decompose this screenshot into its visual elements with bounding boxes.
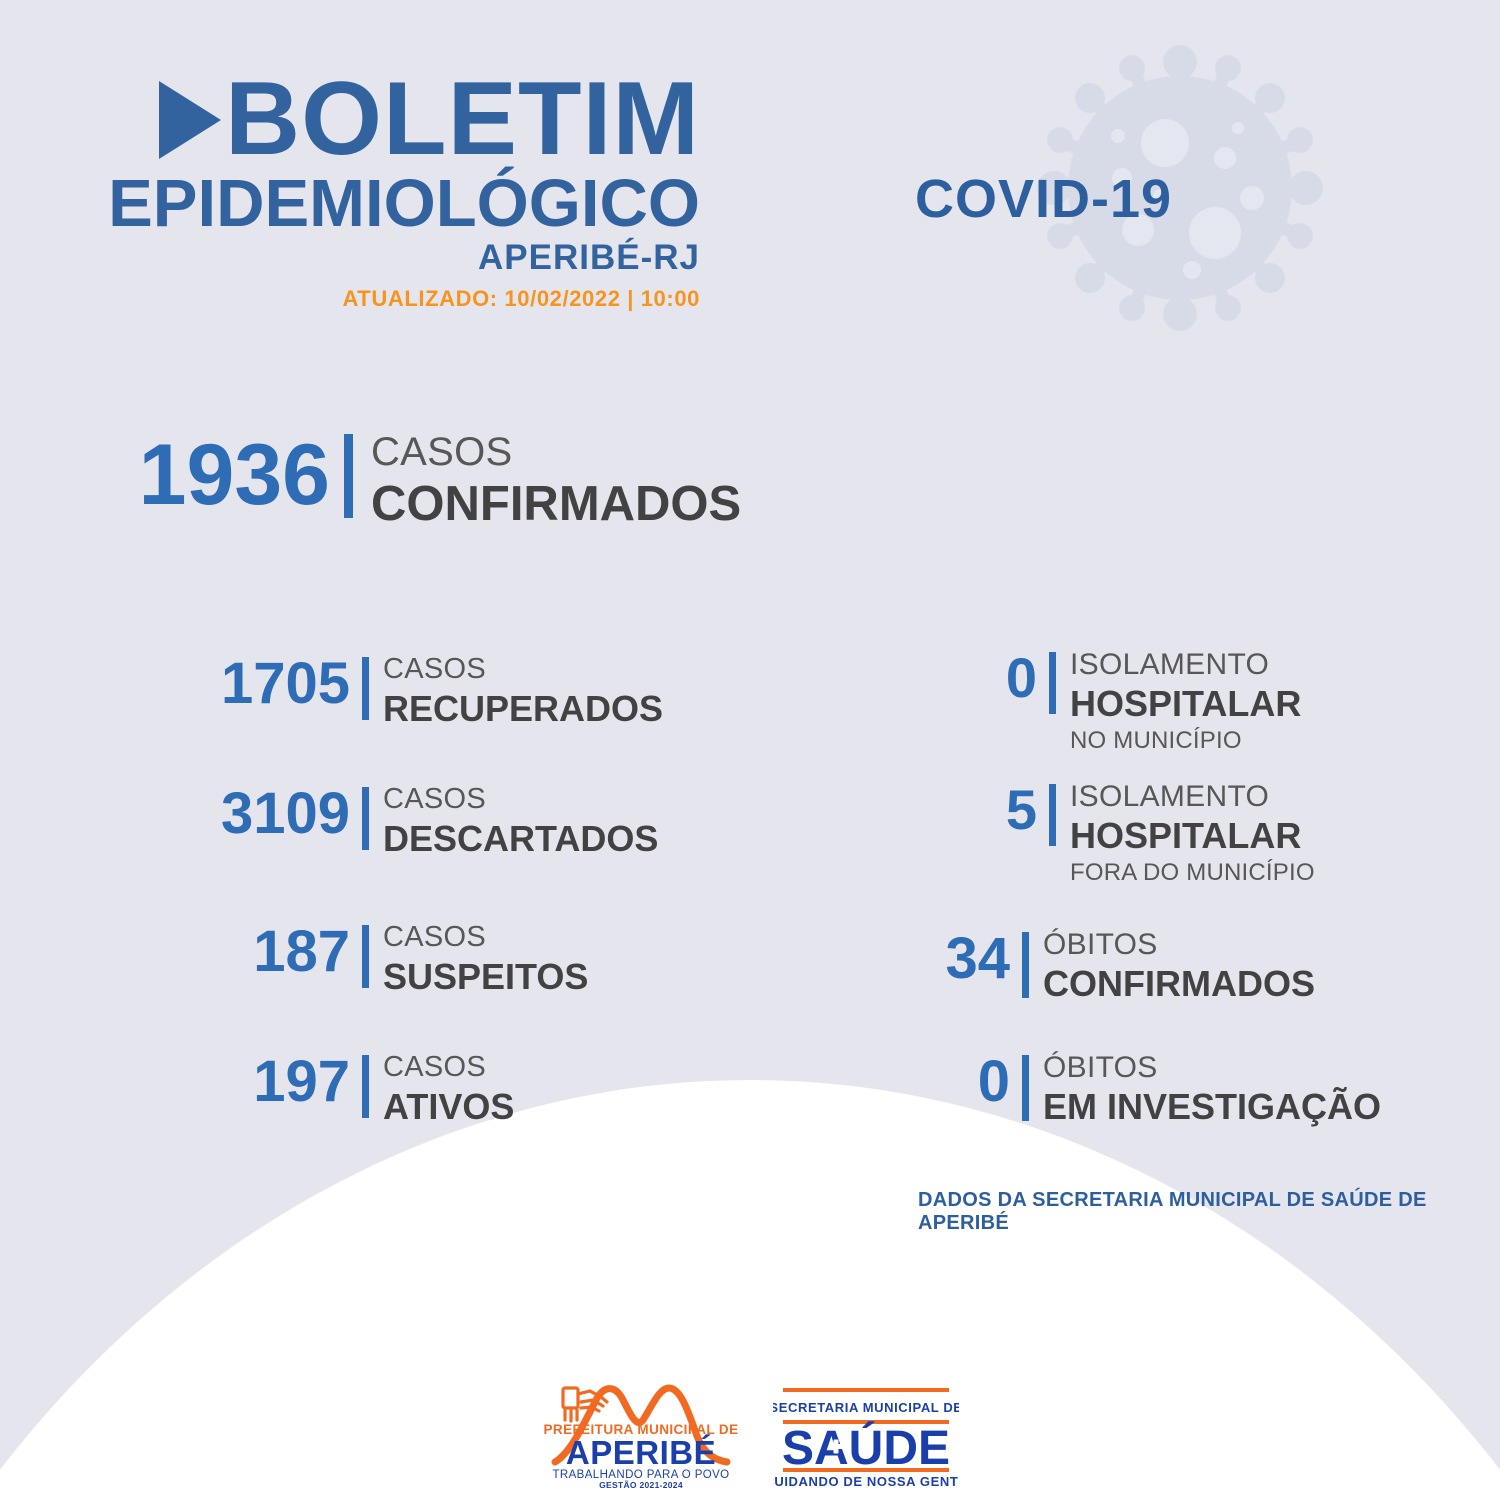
stat-label-main: DESCARTADOS xyxy=(383,821,658,857)
stat-label-main: HOSPITALAR xyxy=(1070,818,1315,854)
stat-divider-bar xyxy=(1049,784,1056,846)
stat-divider-bar xyxy=(1049,652,1056,714)
saude-logo-line1: SECRETARIA MUNICIPAL DE xyxy=(773,1400,959,1415)
stat-divider-bar xyxy=(344,434,353,518)
stat-isolation-out-municipality: 5 ISOLAMENTO HOSPITALAR FORA DO MUNICÍPI… xyxy=(925,782,1315,885)
stat-label-main: CONFIRMADOS xyxy=(371,480,741,529)
footer-logos: PREFEITURA MUNICIPAL DE APERIBÉ TRABALHA… xyxy=(0,1358,1500,1490)
page-subtitle: EPIDEMIOLÓGICO xyxy=(60,170,700,237)
stat-label-top: CASOS xyxy=(383,655,663,684)
saude-logo-line3: CUIDANDO DE NOSSA GENTE xyxy=(773,1474,959,1489)
stat-cases-recovered: 1705 CASOS RECUPERADOS xyxy=(150,655,663,727)
data-source-attribution: DADOS DA SECRETARIA MUNICIPAL DE SAÚDE D… xyxy=(918,1189,1500,1235)
title-block: BOLETIM EPIDEMIOLÓGICO APERIBÉ-RJ ATUALI… xyxy=(60,72,700,312)
stat-label-top: CASOS xyxy=(383,923,588,952)
stat-divider-bar xyxy=(362,787,369,850)
stat-label-sub: FORA DO MUNICÍPIO xyxy=(1070,861,1315,885)
stat-divider-bar xyxy=(1022,1055,1029,1121)
stat-cases-discarded: 3109 CASOS DESCARTADOS xyxy=(150,785,658,857)
stat-cases-active: 197 CASOS ATIVOS xyxy=(150,1053,514,1125)
stat-isolation-in-municipality: 0 ISOLAMENTO HOSPITALAR NO MUNICÍPIO xyxy=(925,650,1301,753)
stat-label-sub: NO MUNICÍPIO xyxy=(1070,729,1301,753)
stat-value: 1705 xyxy=(150,655,350,713)
bulletin-poster: BOLETIM EPIDEMIOLÓGICO APERIBÉ-RJ ATUALI… xyxy=(0,0,1500,1500)
updated-timestamp: ATUALIZADO: 10/02/2022 | 10:00 xyxy=(60,286,700,312)
stat-cases-suspected: 187 CASOS SUSPEITOS xyxy=(150,923,588,995)
stat-label-top: CASOS xyxy=(371,432,741,472)
stat-value: 0 xyxy=(900,1053,1010,1111)
stat-value: 1936 xyxy=(112,432,330,518)
stat-label-top: ISOLAMENTO xyxy=(1070,782,1315,812)
prefeitura-logo-line4: GESTÃO 2021-2024 xyxy=(599,1480,683,1490)
stat-value: 187 xyxy=(150,923,350,981)
stat-value: 3109 xyxy=(150,785,350,843)
stat-label-main: HOSPITALAR xyxy=(1070,686,1301,722)
stat-value: 5 xyxy=(925,782,1037,838)
stat-label-main: RECUPERADOS xyxy=(383,691,663,727)
stat-cases-confirmed: 1936 CASOS CONFIRMADOS xyxy=(112,432,741,529)
prefeitura-aperibe-logo: PREFEITURA MUNICIPAL DE APERIBÉ TRABALHA… xyxy=(541,1358,741,1490)
stat-label-main: SUSPEITOS xyxy=(383,959,588,995)
stat-divider-bar xyxy=(362,657,369,720)
saude-logo-line2: SAÚDE xyxy=(782,1420,950,1475)
stat-deaths-confirmed: 34 ÓBITOS CONFIRMADOS xyxy=(900,930,1315,1002)
stat-divider-bar xyxy=(1022,932,1029,998)
prefeitura-logo-line2: APERIBÉ xyxy=(566,1434,716,1471)
location-label: APERIBÉ-RJ xyxy=(60,239,700,278)
stat-label-top: ÓBITOS xyxy=(1043,1053,1381,1083)
stat-label-top: ISOLAMENTO xyxy=(1070,650,1301,680)
stat-label-top: CASOS xyxy=(383,1053,514,1082)
stat-divider-bar xyxy=(362,1055,369,1118)
stat-label-top: ÓBITOS xyxy=(1043,930,1315,960)
stat-divider-bar xyxy=(362,925,369,988)
stat-value: 0 xyxy=(925,650,1037,706)
stat-label-main: CONFIRMADOS xyxy=(1043,966,1315,1002)
stat-label-top: CASOS xyxy=(383,785,658,814)
stat-label-main: ATIVOS xyxy=(383,1089,514,1125)
stat-value: 197 xyxy=(150,1053,350,1111)
page-title: BOLETIM xyxy=(225,74,700,166)
disease-title: COVID-19 xyxy=(915,168,1172,230)
stat-deaths-under-investigation: 0 ÓBITOS EM INVESTIGAÇÃO xyxy=(900,1053,1381,1125)
play-triangle-icon xyxy=(159,81,221,159)
stat-value: 34 xyxy=(900,930,1010,988)
stat-label-main: EM INVESTIGAÇÃO xyxy=(1043,1089,1381,1125)
secretaria-saude-logo: SECRETARIA MUNICIPAL DE SAÚDE CUIDANDO D… xyxy=(773,1372,959,1490)
